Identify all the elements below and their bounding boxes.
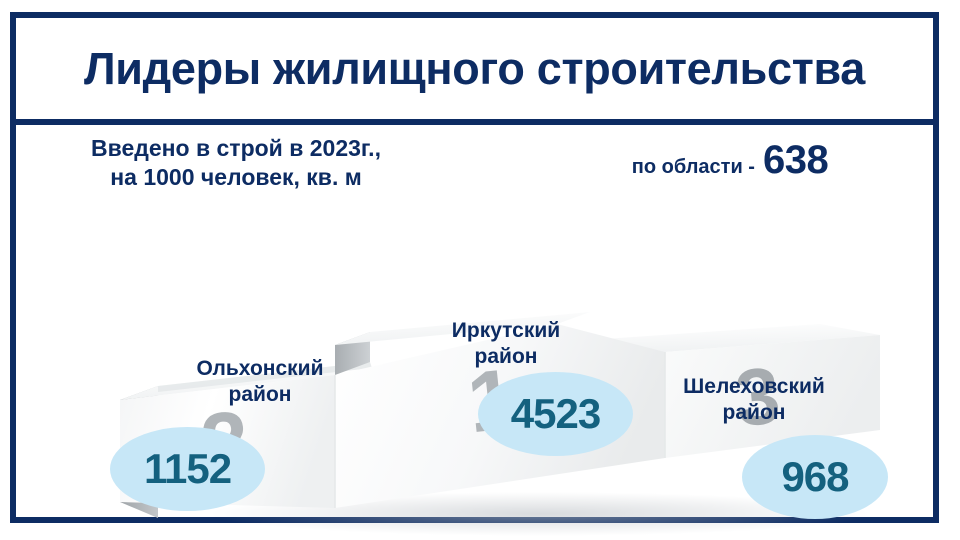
place-label-olkhonsky: Ольхонский район bbox=[150, 356, 370, 407]
place-label-shelekhovsky: Шелеховский район bbox=[634, 374, 874, 425]
value-bubble-irkutsky: 4523 bbox=[478, 372, 633, 456]
page-title: Лидеры жилищного строительства bbox=[84, 46, 865, 91]
place-3-district-line-2: район bbox=[634, 400, 874, 426]
place-2-district-line-1: Ольхонский bbox=[150, 356, 370, 382]
place-1-district-line-1: Иркутский bbox=[396, 318, 616, 344]
place-label-irkutsky: Иркутский район bbox=[396, 318, 616, 369]
slide-root: Лидеры жилищного строительства Введено в… bbox=[0, 0, 960, 540]
place-3-district-line-1: Шелеховский bbox=[634, 374, 874, 400]
place-1-district-line-2: район bbox=[396, 344, 616, 370]
value-bubble-olkhonsky: 1152 bbox=[110, 427, 265, 511]
value-bubble-shelekhovsky: 968 bbox=[742, 435, 888, 519]
podium-stage: 2 1 3 Ольхонский район Иркутский район Ш… bbox=[0, 120, 960, 540]
place-2-district-line-2: район bbox=[150, 382, 370, 408]
title-bar: Лидеры жилищного строительства bbox=[16, 18, 933, 119]
